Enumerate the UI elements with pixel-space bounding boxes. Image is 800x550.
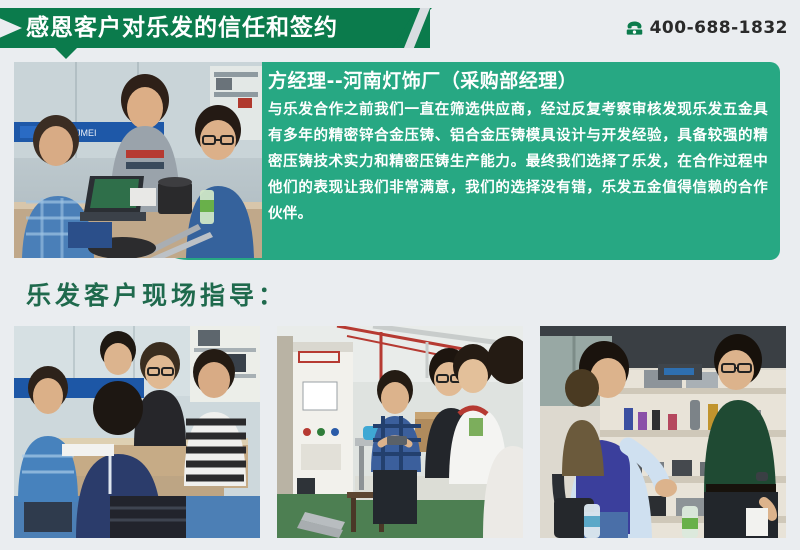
testimonial-body: 与乐发合作之前我们一直在筛选供应商，经过反复考察审核发现乐发五金具有多年的精密锌… [268,97,768,227]
testimonial-author: 方经理--河南灯饰厂（采购部经理） [268,66,768,96]
phone-number-text: 400-688-1832 [650,18,788,38]
gallery-section-title: 乐发客户现场指导： [26,276,287,312]
page-title: 感恩客户对乐发的信任和签约 [26,8,338,48]
testimonial-text: 方经理--河南灯饰厂（采购部经理） 与乐发合作之前我们一直在筛选供应商，经过反复… [268,66,768,256]
gallery-photo-row [14,326,786,538]
gallery-photo-2 [277,326,523,538]
telephone-icon [625,19,644,38]
gallery-photo-3 [540,326,786,538]
testimonial-section: JMEI [14,62,780,260]
header-down-arrow-icon [55,48,77,59]
page-header: 感恩客户对乐发的信任和签约 400-688-1832 [0,0,800,48]
gallery-photo-1 [14,326,260,538]
contact-phone[interactable]: 400-688-1832 [625,8,788,48]
testimonial-photo: JMEI [14,62,262,258]
svg-text:JMEI: JMEI [76,128,97,138]
